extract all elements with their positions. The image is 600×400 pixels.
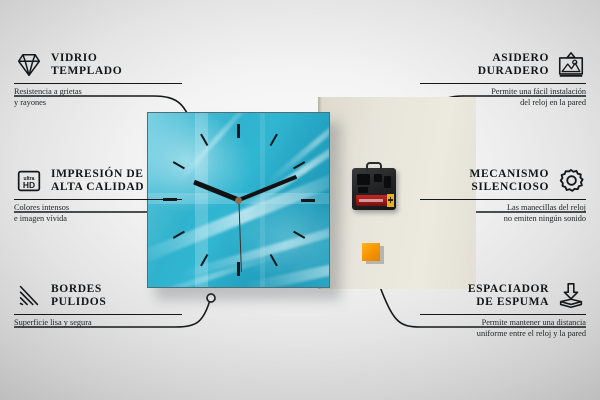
feature-bordes-pulidos: BORDES PULIDOS Superficie lisa y segura xyxy=(14,281,182,329)
gear-icon xyxy=(556,166,586,196)
feature-rule xyxy=(420,83,586,84)
feature-title: BORDES PULIDOS xyxy=(51,283,106,310)
movement-slot xyxy=(384,176,391,188)
feature-description: Colores intensos e imagen vívida xyxy=(14,203,182,224)
feature-description: Resistencia a grietas y rayones xyxy=(14,87,182,108)
feature-title: IMPRESIÓN DE ALTA CALIDAD xyxy=(51,168,144,195)
battery-plus-terminal xyxy=(387,194,394,207)
feature-vidrio-templado: VIDRIO TEMPLADO Resistencia a grietas y … xyxy=(14,50,182,108)
foam-spacer xyxy=(362,243,380,261)
feature-asidero-duradero: ASIDERO DURADERO Permite una fácil insta… xyxy=(420,50,586,108)
feature-rule xyxy=(14,314,182,315)
battery xyxy=(356,195,389,206)
movement-slot xyxy=(357,174,370,185)
clock-tick xyxy=(238,124,240,200)
svg-text:HD: HD xyxy=(23,180,35,190)
clock-movement-box xyxy=(352,168,396,210)
feature-espaciador-de-espuma: ESPACIADOR DE ESPUMA Permite mantener un… xyxy=(420,281,586,339)
feature-mecanismo-silencioso: MECANISMO SILENCIOSO Las manecillas del … xyxy=(420,166,586,224)
feature-description: Las manecillas del reloj no emiten ningú… xyxy=(420,203,586,224)
feature-rule xyxy=(14,199,182,200)
feature-title: ESPACIADOR DE ESPUMA xyxy=(468,283,549,310)
feature-title: MECANISMO SILENCIOSO xyxy=(469,168,549,195)
movement-hanger xyxy=(366,162,382,171)
feature-impresion-alta-calidad: ultra HD IMPRESIÓN DE ALTA CALIDAD Color… xyxy=(14,166,182,224)
feature-description: Permite mantener una distancia uniforme … xyxy=(420,318,586,339)
feature-rule xyxy=(14,83,182,84)
picture-frame-hanger-icon xyxy=(556,50,586,80)
feature-rule xyxy=(420,314,586,315)
feature-title: ASIDERO DURADERO xyxy=(478,52,549,79)
diamond-icon xyxy=(14,50,44,80)
movement-slot xyxy=(374,174,382,182)
clock-center-cap xyxy=(235,197,242,204)
feature-description: Superficie lisa y segura xyxy=(14,318,182,329)
polished-edges-icon xyxy=(14,281,44,311)
feature-description: Permite una fácil instalación del reloj … xyxy=(420,87,586,108)
movement-slot xyxy=(358,187,368,193)
foam-spacer-arrow-icon xyxy=(556,281,586,311)
feature-rule xyxy=(420,199,586,200)
clock-tick xyxy=(239,199,315,201)
battery-label xyxy=(359,199,383,202)
product-infographic: VIDRIO TEMPLADO Resistencia a grietas y … xyxy=(0,0,600,400)
ultra-hd-icon: ultra HD xyxy=(14,166,44,196)
feature-title: VIDRIO TEMPLADO xyxy=(51,52,122,79)
